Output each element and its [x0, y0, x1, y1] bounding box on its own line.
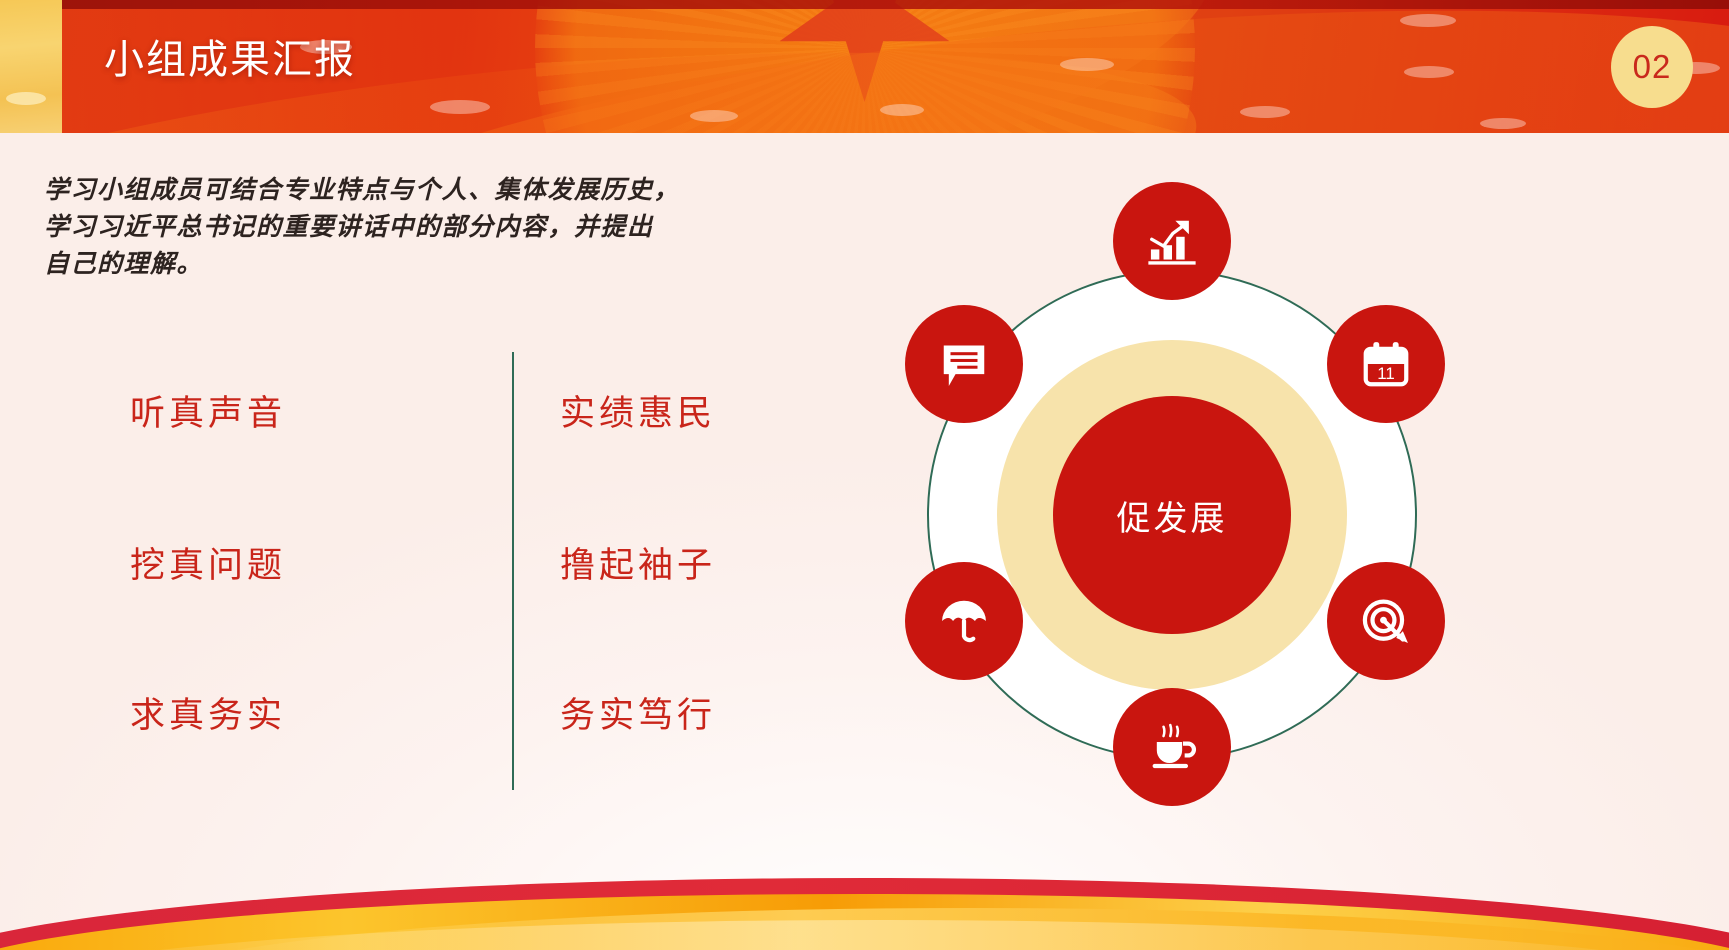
circular-diagram: 促发展: [895, 170, 1465, 790]
calendar-icon: 11: [1359, 337, 1413, 391]
diagram-center-label: 促发展: [1117, 491, 1228, 540]
diagram-node-chat[interactable]: [905, 305, 1023, 423]
keyword-grid: 听真声音 挖真问题 求真务实 实绩惠民 撸起袖子 务实笃行: [60, 330, 820, 790]
keyword-item-left-1: 听真声音: [130, 340, 460, 480]
section-number-badge: 02: [1611, 26, 1693, 108]
diagram-node-calendar[interactable]: 11: [1327, 305, 1445, 423]
keyword-item-left-2: 挖真问题: [130, 492, 460, 632]
header-gold-accent-bar: [0, 0, 62, 133]
diagram-node-coffee[interactable]: [1113, 688, 1231, 806]
bar-chart-growth-icon: [1145, 214, 1199, 268]
chat-bubble-icon: [937, 337, 991, 391]
intro-paragraph: 学习小组成员可结合专业特点与个人、集体发展历史， 学习习近平总书记的重要讲话中的…: [44, 172, 784, 283]
svg-text:11: 11: [1377, 364, 1395, 383]
header-speck: [1240, 106, 1290, 118]
page-title: 小组成果汇报: [104, 27, 356, 85]
slide-header: 小组成果汇报 02: [0, 0, 1729, 133]
header-speck: [690, 110, 738, 122]
header-speck: [1400, 14, 1456, 27]
header-speck: [1480, 118, 1526, 129]
slide-canvas: 小组成果汇报 02 学习小组成员可结合专业特点与个人、集体发展历史， 学习习近平…: [0, 0, 1729, 950]
intro-line-2: 学习习近平总书记的重要讲话中的部分内容，并提出: [44, 209, 784, 246]
keyword-item-right-2: 撸起袖子: [500, 492, 830, 632]
keyword-item-right-1: 实绩惠民: [500, 340, 830, 480]
slide-footer: [0, 830, 1729, 950]
header-speck: [1060, 58, 1114, 71]
intro-line-3: 自己的理解。: [44, 246, 784, 283]
diagram-node-bar-chart[interactable]: [1113, 182, 1231, 300]
header-speck: [1404, 66, 1454, 78]
coffee-cup-icon: [1145, 720, 1199, 774]
target-arrow-icon: [1359, 594, 1413, 648]
header-top-stripe: [0, 0, 1729, 9]
header-speck: [430, 100, 490, 114]
header-speck: [880, 104, 924, 116]
umbrella-icon: [937, 594, 991, 648]
diagram-center-circle: 促发展: [1053, 396, 1291, 634]
keyword-item-right-3: 务实笃行: [500, 642, 830, 782]
keyword-item-left-3: 求真务实: [130, 642, 460, 782]
intro-line-1: 学习小组成员可结合专业特点与个人、集体发展历史，: [44, 172, 784, 209]
diagram-node-umbrella[interactable]: [905, 562, 1023, 680]
diagram-node-target[interactable]: [1327, 562, 1445, 680]
